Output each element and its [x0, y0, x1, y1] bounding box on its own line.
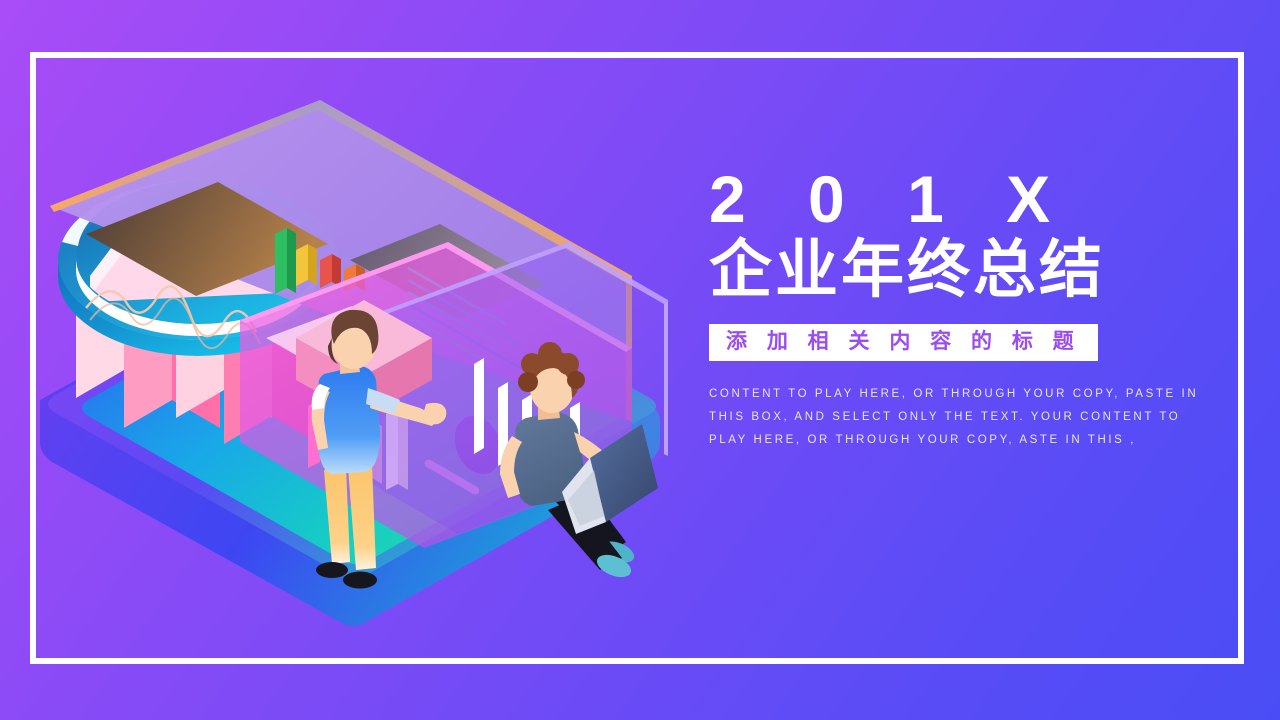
subtitle-text: 添 加 相 关 内 容 的 标 题	[726, 330, 1081, 353]
subtitle-badge: 添 加 相 关 内 容 的 标 题	[709, 324, 1098, 361]
body-line-3: PLAY HERE, OR THROUGH YOUR COPY, ASTE IN…	[709, 429, 1209, 452]
year-label: 2 0 1 X	[709, 166, 1219, 232]
body-line-1: CONTENT TO PLAY HERE, OR THROUGH YOUR CO…	[709, 383, 1209, 406]
title-text-column: 2 0 1 X 企业年终总结 添 加 相 关 内 容 的 标 题 CONTENT…	[709, 166, 1219, 452]
body-line-2: THIS BOX, AND SELECT ONLY THE TEXT. YOUR…	[709, 406, 1209, 429]
hero-illustration	[28, 70, 688, 650]
body-paragraph: CONTENT TO PLAY HERE, OR THROUGH YOUR CO…	[709, 383, 1209, 452]
page-title: 企业年终总结	[709, 236, 1219, 304]
presentation-slide: 2 0 1 X 企业年终总结 添 加 相 关 内 容 的 标 题 CONTENT…	[0, 0, 1280, 720]
